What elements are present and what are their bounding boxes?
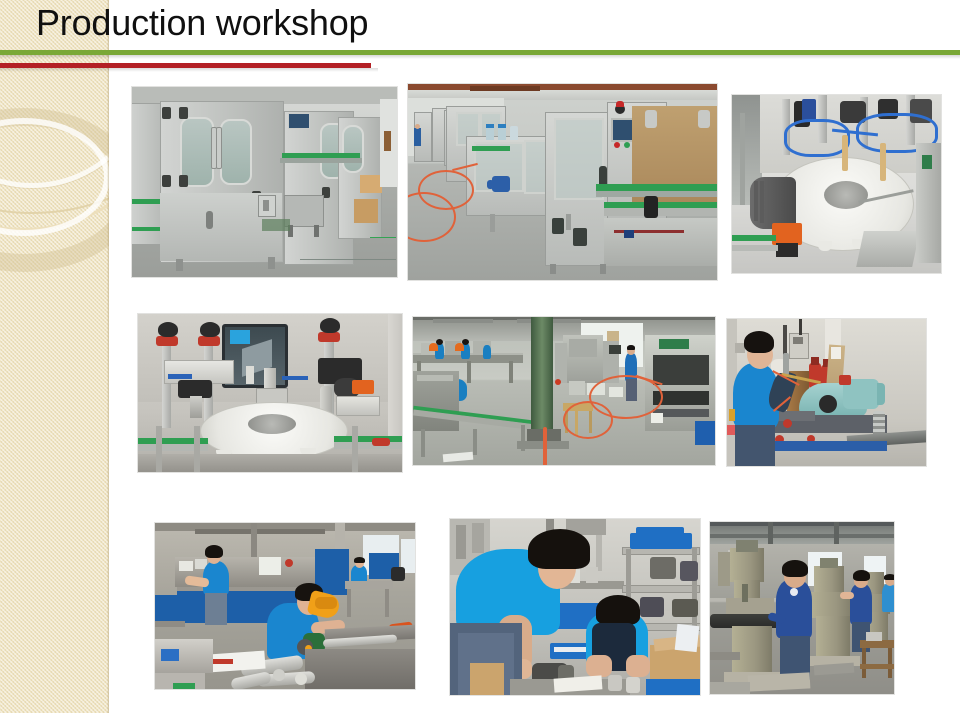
decorative-ring-highlight — [0, 118, 109, 236]
left-panel-edge — [107, 0, 109, 713]
gallery-photo-9[interactable] — [709, 521, 895, 695]
gallery-photo-2[interactable] — [407, 83, 718, 281]
red-rule — [0, 63, 371, 68]
gallery-photo-8[interactable] — [449, 518, 701, 696]
page-title: Production workshop — [36, 0, 368, 47]
decorative-ring-shadow — [0, 108, 109, 272]
red-rule-shadow — [0, 68, 378, 72]
gallery-photo-7[interactable] — [154, 522, 416, 690]
gallery-photo-4[interactable] — [137, 313, 403, 473]
left-decorative-panel — [0, 0, 109, 713]
gallery-photo-3[interactable] — [731, 94, 942, 274]
gallery-photo-1[interactable] — [131, 86, 398, 278]
gallery-photo-6[interactable] — [726, 318, 927, 467]
gallery-photo-5[interactable] — [412, 316, 716, 466]
presentation-slide: Production workshop — [0, 0, 960, 713]
green-rule — [0, 50, 960, 55]
green-rule-shadow — [0, 55, 960, 59]
